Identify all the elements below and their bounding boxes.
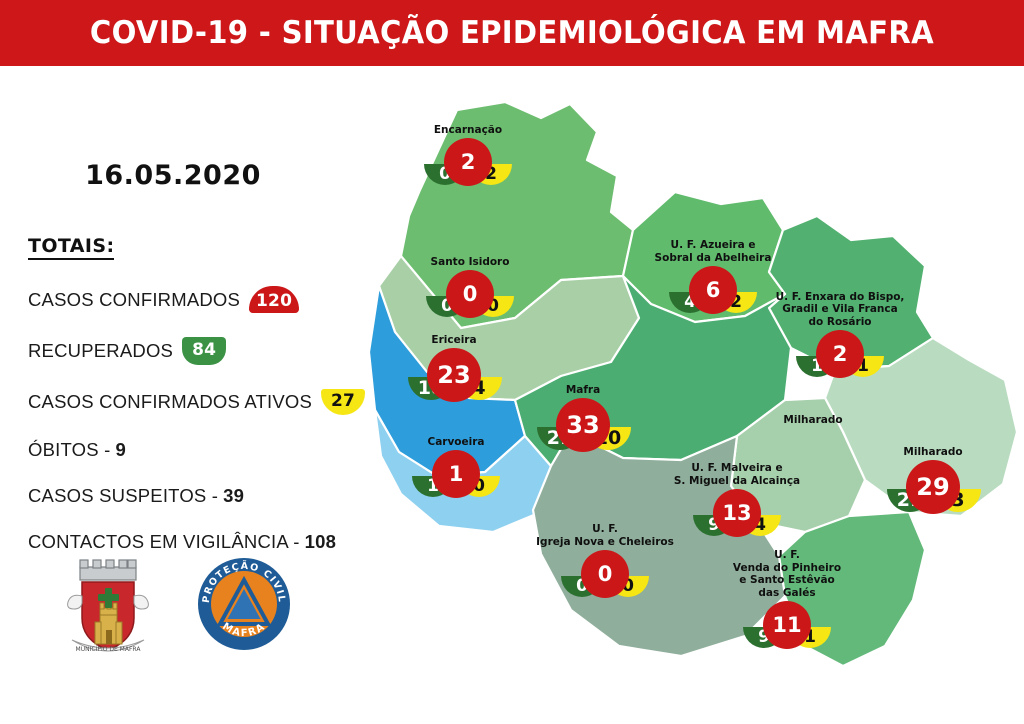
region-label-ericeira: Ericeira <box>431 334 476 347</box>
stat-value: 9 <box>115 439 126 461</box>
map-marker-encarnacao[interactable]: Encarnação 0 2 2 <box>420 138 516 200</box>
map-marker-carvoeira[interactable]: Carvoeira 1 0 1 <box>408 450 504 512</box>
confirmed-count: 33 <box>556 398 610 452</box>
logo-row: MUNICÍPIO DE MAFRA PROTEÇÃO CIVIL MAFRA <box>62 556 292 665</box>
confirmed-count: 1 <box>432 450 480 498</box>
region-label-enxara-do-bispo: U. F. Enxara do Bispo, Gradil e Vila Fra… <box>776 291 905 329</box>
stat-row-casos-suspeitos: CASOS SUSPEITOS - 39 <box>28 485 388 507</box>
civil-protection-icon: PROTEÇÃO CIVIL MAFRA <box>196 556 292 652</box>
coat-of-arms-caption: MUNICÍPIO DE MAFRA <box>76 646 142 653</box>
confirmed-count: 0 <box>581 550 629 598</box>
stat-row-contactos-vigilancia: CONTACTOS EM VIGILÂNCIA - 108 <box>28 531 388 553</box>
map-marker-milharado[interactable]: Milharado 21 3 29 <box>885 460 981 522</box>
map-marker-malveira[interactable]: U. F. Malveira e S. Miguel da Alcainça 9… <box>689 489 785 551</box>
protecao-civil-mafra-logo: PROTEÇÃO CIVIL MAFRA <box>196 556 292 657</box>
totals-panel: 16.05.2020 TOTAIS: CASOS CONFIRMADOS 120… <box>28 160 388 577</box>
confirmed-count: 23 <box>427 348 481 402</box>
region-label-azueira: U. F. Azueira e Sobral da Abelheira <box>655 239 772 264</box>
coat-of-arms-icon: MUNICÍPIO DE MAFRA <box>62 556 154 660</box>
stat-label: CASOS SUSPEITOS - <box>28 485 218 507</box>
region-label-mafra: Mafra <box>566 384 600 397</box>
confirmed-count: 11 <box>763 601 811 649</box>
stat-row-recuperados: RECUPERADOS 84 <box>28 337 388 365</box>
report-date: 16.05.2020 <box>28 160 318 191</box>
page-title: COVID-19 - SITUAÇÃO EPIDEMIOLÓGICA EM MA… <box>90 15 934 51</box>
confirmed-count: 0 <box>446 270 494 318</box>
stat-label: CASOS CONFIRMADOS <box>28 289 240 311</box>
status-badge-active: 27 <box>321 389 365 415</box>
region-label-venda-do-pinheiro: U. F. Venda do Pinheiro e Santo Estêvão … <box>733 549 841 599</box>
confirmed-count: 13 <box>713 489 761 537</box>
stat-label: CONTACTOS EM VIGILÂNCIA - <box>28 531 300 553</box>
region-label-encarnacao: Encarnação <box>434 124 502 137</box>
stat-row-casos-confirmados: CASOS CONFIRMADOS 120 <box>28 286 388 313</box>
map-marker-igreja-nova[interactable]: U. F. Igreja Nova e Cheleiros 0 0 0 <box>557 550 653 612</box>
region-label-milharado: Milharado <box>903 446 962 459</box>
confirmed-count: 2 <box>816 330 864 378</box>
stat-value: 39 <box>223 485 244 507</box>
map-marker-azueira[interactable]: U. F. Azueira e Sobral da Abelheira 4 2 … <box>665 266 761 328</box>
stat-value: 108 <box>305 531 336 553</box>
region-label-santo-isidoro: Santo Isidoro <box>431 256 510 269</box>
confirmed-count: 29 <box>906 460 960 514</box>
stat-label: ÓBITOS - <box>28 439 110 461</box>
status-badge-recovered: 84 <box>182 337 226 365</box>
region-label-igreja-nova: U. F. Igreja Nova e Cheleiros <box>536 523 674 548</box>
map-marker-santo-isidoro[interactable]: Santo Isidoro 0 0 0 <box>422 270 518 332</box>
stat-label: RECUPERADOS <box>28 340 173 362</box>
region-label-malveira: U. F. Malveira e S. Miguel da Alcainça <box>674 462 800 487</box>
confirmed-count: 6 <box>689 266 737 314</box>
stat-row-obitos: ÓBITOS - 9 <box>28 439 388 461</box>
map-marker-ericeira[interactable]: Ericeira 18 4 23 <box>406 348 502 410</box>
totals-heading: TOTAIS: <box>28 235 114 260</box>
stat-label: CASOS CONFIRMADOS ATIVOS <box>28 391 312 413</box>
municipio-de-mafra-logo: MUNICÍPIO DE MAFRA <box>62 556 154 665</box>
stat-row-casos-ativos: CASOS CONFIRMADOS ATIVOS 27 <box>28 389 388 415</box>
map-marker-mafra[interactable]: Mafra 21 10 33 <box>535 398 631 460</box>
confirmed-count: 2 <box>444 138 492 186</box>
map-place-label-milharado: Milharado <box>783 414 842 426</box>
map-marker-venda-do-pinheiro[interactable]: U. F. Venda do Pinheiro e Santo Estêvão … <box>739 601 835 663</box>
map-marker-enxara-do-bispo[interactable]: U. F. Enxara do Bispo, Gradil e Vila Fra… <box>792 330 888 392</box>
header-banner: COVID-19 - SITUAÇÃO EPIDEMIOLÓGICA EM MA… <box>0 0 1024 66</box>
status-badge-confirmed: 120 <box>249 286 299 313</box>
region-label-carvoeira: Carvoeira <box>427 436 484 449</box>
mafra-municipality-map: Encarnação 0 2 2 Santo Isidoro 0 0 0 Eri… <box>365 80 1024 724</box>
